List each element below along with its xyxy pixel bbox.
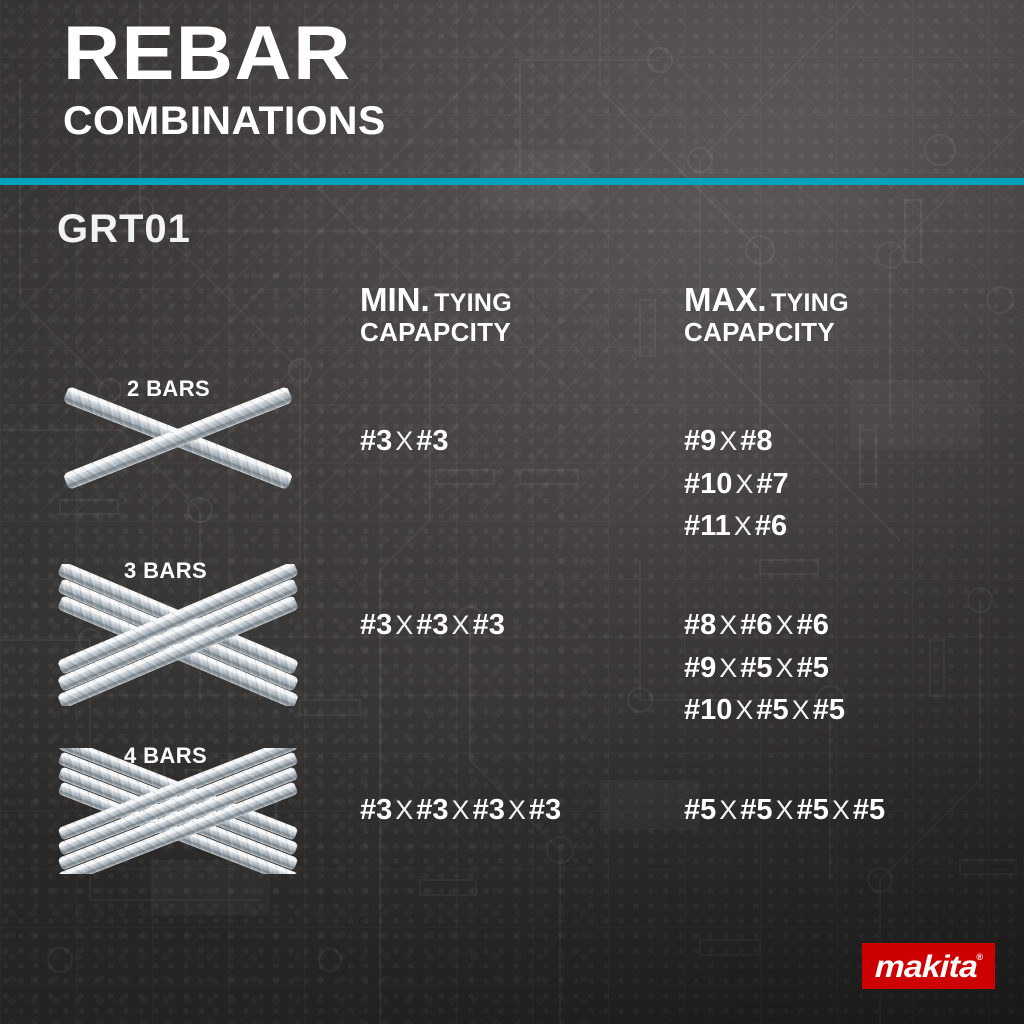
multiply-symbol: X xyxy=(505,795,529,825)
bars-count-label: 3 BARS xyxy=(124,558,207,584)
rebar-size: #3 xyxy=(416,425,448,457)
rebar-size: #9 xyxy=(684,425,716,457)
multiply-symbol: X xyxy=(392,795,416,825)
column-header-min-emphasis: MIN. xyxy=(360,281,430,318)
rebar-size: #3 xyxy=(529,794,561,826)
cell-max-capacity: #8X#6X#6#9X#5X#5#10X#5X#5 xyxy=(684,604,845,732)
rebar-size: #11 xyxy=(684,510,731,542)
multiply-symbol: X xyxy=(449,795,473,825)
rebar-size: #5 xyxy=(853,794,885,826)
rebar-size: #6 xyxy=(755,510,787,542)
column-header-max-rest: TYING xyxy=(771,289,849,317)
registered-trademark-icon: ® xyxy=(976,952,983,962)
capacity-line: #9X#8 xyxy=(684,420,789,463)
cell-max-capacity: #5X#5X#5X#5 xyxy=(684,789,885,832)
column-header-min-line2: CAPAPCITY xyxy=(360,319,512,346)
makita-wordmark: makita xyxy=(874,951,983,982)
rebar-size: #3 xyxy=(360,794,392,826)
bars-count-label: 2 BARS xyxy=(127,376,210,402)
rebar-size: #3 xyxy=(416,794,448,826)
multiply-symbol: X xyxy=(392,610,416,640)
rebar-size: #5 xyxy=(756,694,788,726)
rebar-size: #6 xyxy=(740,609,772,641)
multiply-symbol: X xyxy=(392,426,416,456)
multiply-symbol: X xyxy=(773,653,797,683)
column-header-max-line2: CAPAPCITY xyxy=(684,319,849,346)
rebar-size: #7 xyxy=(756,468,788,500)
makita-logo: makita ® xyxy=(862,943,995,989)
rebar-size: #5 xyxy=(740,652,772,684)
multiply-symbol: X xyxy=(789,695,813,725)
multiply-symbol: X xyxy=(773,795,797,825)
multiply-symbol: X xyxy=(732,469,756,499)
rebar-size: #5 xyxy=(797,652,829,684)
multiply-symbol: X xyxy=(449,610,473,640)
cell-min-capacity: #3X#3 xyxy=(360,420,449,463)
rebar-size: #8 xyxy=(684,609,716,641)
rebar-size: #6 xyxy=(797,609,829,641)
multiply-symbol: X xyxy=(716,795,740,825)
multiply-symbol: X xyxy=(716,426,740,456)
rebar-crossing-illustration xyxy=(38,564,318,706)
accent-divider xyxy=(0,178,1024,185)
cell-min-capacity: #3X#3X#3 xyxy=(360,604,505,647)
rebar-size: #3 xyxy=(473,794,505,826)
multiply-symbol: X xyxy=(829,795,853,825)
capacity-line: #10X#5X#5 xyxy=(684,689,845,732)
rebar-size: #5 xyxy=(740,794,772,826)
cell-min-capacity: #3X#3X#3X#3 xyxy=(360,789,561,832)
rebar-size: #5 xyxy=(684,794,716,826)
rebar-size: #9 xyxy=(684,652,716,684)
rebar-size: #3 xyxy=(473,609,505,641)
rebar-combinations-infographic: REBAR COMBINATIONS GRT01 MIN. TYING CAPA… xyxy=(0,0,1024,1024)
capacity-line: #3X#3 xyxy=(360,420,449,463)
multiply-symbol: X xyxy=(716,610,740,640)
capacity-line: #11X#6 xyxy=(684,505,789,548)
rebar-size: #8 xyxy=(740,425,772,457)
rebar-size: #5 xyxy=(813,694,845,726)
page-title: REBAR COMBINATIONS xyxy=(63,18,379,141)
capacity-line: #9X#5X#5 xyxy=(684,647,845,690)
multiply-symbol: X xyxy=(731,511,755,541)
model-number: GRT01 xyxy=(57,207,191,252)
rebar-size: #3 xyxy=(416,609,448,641)
cell-max-capacity: #9X#8#10X#7#11X#6 xyxy=(684,420,789,548)
title-subtitle: COMBINATIONS xyxy=(63,101,386,141)
column-header-min-rest: TYING xyxy=(434,289,512,317)
capacity-line: #3X#3X#3X#3 xyxy=(360,789,561,832)
multiply-symbol: X xyxy=(732,695,756,725)
column-header-max: MAX. TYING CAPAPCITY xyxy=(684,283,849,346)
column-header-min: MIN. TYING CAPAPCITY xyxy=(360,283,512,346)
multiply-symbol: X xyxy=(773,610,797,640)
capacity-line: #10X#7 xyxy=(684,463,789,506)
title-main: REBAR xyxy=(63,18,392,90)
column-header-max-emphasis: MAX. xyxy=(684,281,767,318)
rebar-size: #10 xyxy=(684,694,732,726)
bars-count-label: 4 BARS xyxy=(124,743,207,769)
capacity-line: #5X#5X#5X#5 xyxy=(684,789,885,832)
capacity-line: #3X#3X#3 xyxy=(360,604,505,647)
capacity-line: #8X#6X#6 xyxy=(684,604,845,647)
multiply-symbol: X xyxy=(716,653,740,683)
rebar-size: #3 xyxy=(360,425,392,457)
rebar-size: #3 xyxy=(360,609,392,641)
rebar-icon xyxy=(38,564,318,706)
rebar-size: #5 xyxy=(797,794,829,826)
rebar-size: #10 xyxy=(684,468,732,500)
